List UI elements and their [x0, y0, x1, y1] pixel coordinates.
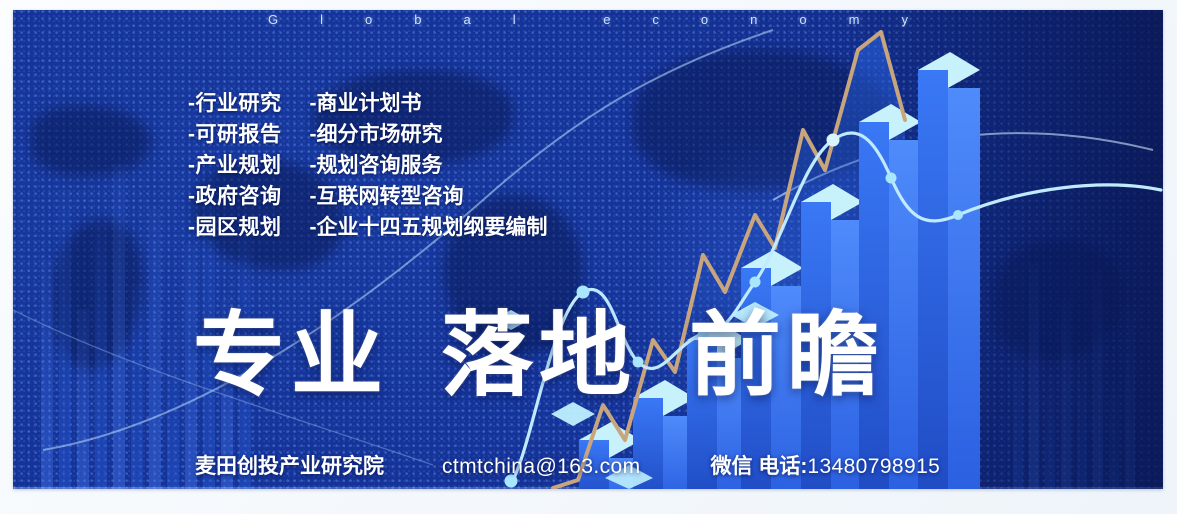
service-list: -行业研究 -可研报告 -产业规划 -政府咨询 -园区规划 -商业计划书 -细分…: [188, 88, 548, 243]
headline-word-3: 前瞻: [689, 306, 885, 406]
service-item: -企业十四五规划纲要编制: [310, 212, 548, 243]
economy-chart: [13, 10, 1163, 489]
service-item: -产业规划: [188, 150, 282, 181]
chart-data-point: [750, 277, 761, 288]
footer-contact-bar: 麦田创投产业研究院 ctmtchina@163.com 微信 电话: 13480…: [195, 450, 940, 480]
chart-data-point: [577, 286, 590, 299]
promo-banner: Global economy: [13, 10, 1163, 489]
headline-word-1: 专业: [193, 306, 389, 406]
chart-data-point: [827, 134, 840, 147]
chart-data-point: [886, 173, 897, 184]
email-address: ctmtchina@163.com: [442, 455, 641, 479]
service-item: -行业研究: [188, 88, 282, 119]
chart-bar: [918, 52, 980, 489]
service-column-right: -商业计划书 -细分市场研究 -规划咨询服务 -互联网转型咨询 -企业十四五规划…: [310, 88, 548, 243]
organization-name: 麦田创投产业研究院: [195, 450, 384, 480]
service-column-left: -行业研究 -可研报告 -产业规划 -政府咨询 -园区规划: [188, 88, 282, 243]
service-item: -细分市场研究: [310, 119, 548, 150]
chart-data-point: [953, 210, 963, 220]
service-item: -规划咨询服务: [310, 150, 548, 181]
phone-number: 13480798915: [807, 455, 940, 479]
page-root: Global economy: [0, 0, 1177, 514]
chart-bar: [859, 104, 921, 489]
service-item: -园区规划: [188, 212, 282, 243]
service-item: -可研报告: [188, 119, 282, 150]
contact-label: 微信 电话:: [711, 450, 808, 480]
service-item: -互联网转型咨询: [310, 181, 548, 212]
headline-word-2: 落地: [441, 306, 637, 406]
service-item: -政府咨询: [188, 181, 282, 212]
service-item: -商业计划书: [310, 88, 548, 119]
headline: 专业 落地 前瞻: [193, 306, 885, 406]
